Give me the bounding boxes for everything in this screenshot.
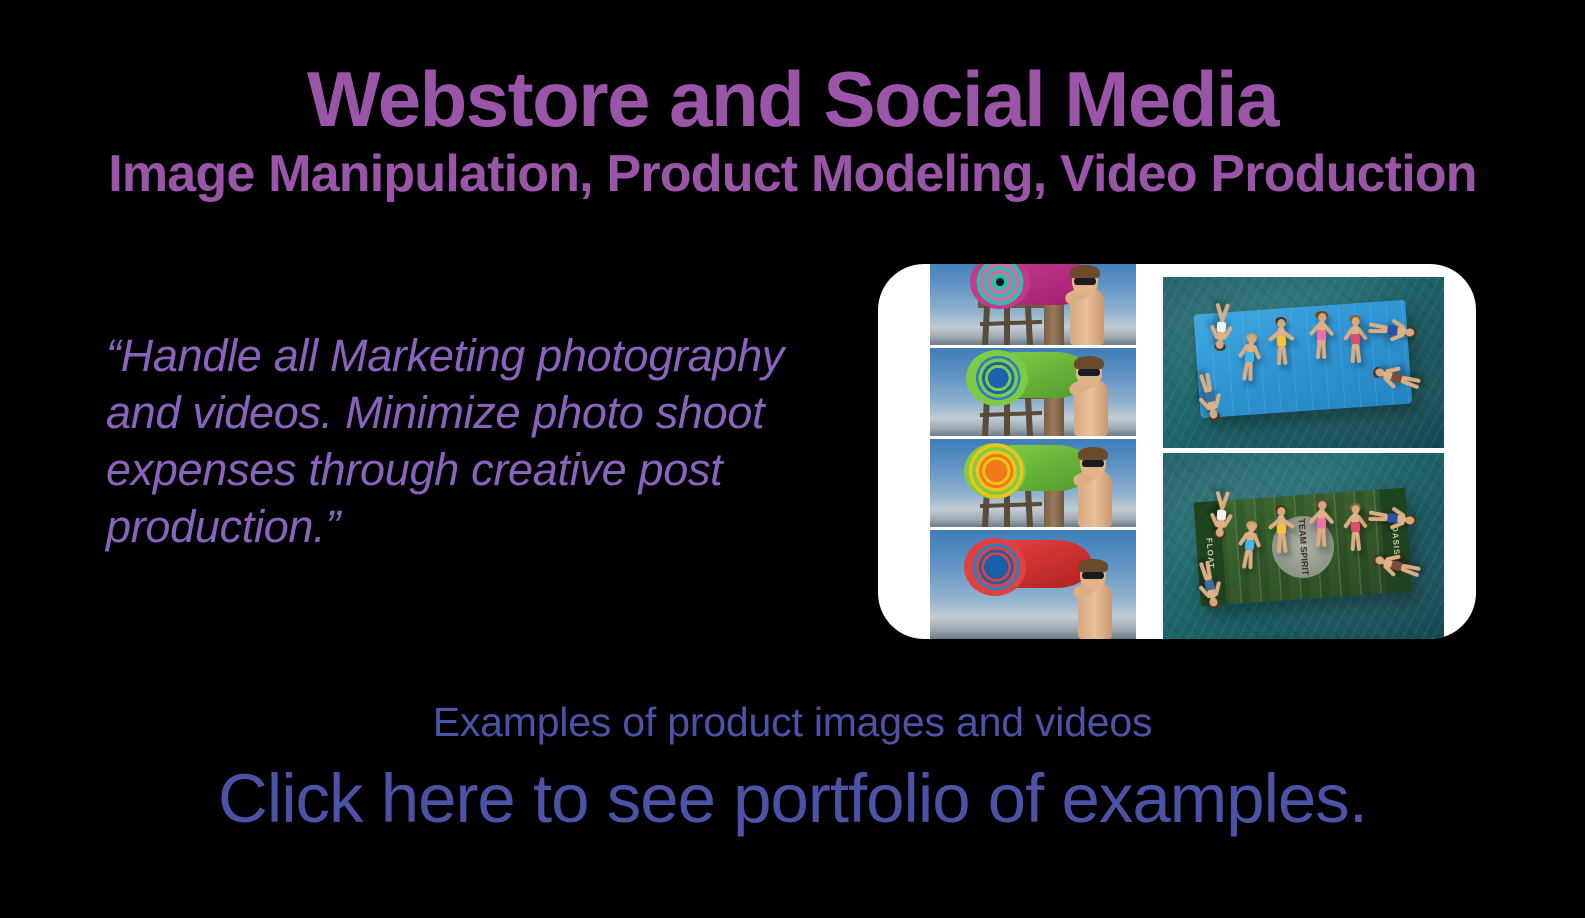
rolled-mat-spiral: [964, 538, 1026, 596]
person-on-pad: [1315, 501, 1329, 547]
product-image-collage: FLOAT OASIS TEAM SPIRIT: [878, 264, 1476, 639]
blue-water-pad-photo[interactable]: [1163, 277, 1444, 448]
model-person: [1064, 360, 1118, 436]
examples-caption: Examples of product images and videos: [0, 697, 1585, 747]
collage-thumbnail[interactable]: [930, 264, 1136, 345]
model-person: [1060, 265, 1114, 345]
testimonial-quote: “Handle all Marketing photography and vi…: [106, 327, 786, 555]
person-on-pad: [1349, 505, 1363, 551]
person-on-pad: [1349, 317, 1363, 363]
page-subtitle: Image Manipulation, Product Modeling, Vi…: [0, 143, 1585, 205]
person-on-pad: [1274, 319, 1289, 365]
page-title: Webstore and Social Media: [0, 56, 1585, 142]
model-person: [1068, 455, 1122, 527]
person-on-pad: [1315, 313, 1329, 359]
slide-root: Webstore and Social Media Image Manipula…: [0, 0, 1585, 918]
rolled-mat-spiral: [966, 350, 1028, 406]
portfolio-link[interactable]: Click here to see portfolio of examples.: [0, 757, 1585, 841]
collage-thumbnail[interactable]: [930, 348, 1136, 436]
pad-text-right: OASIS: [1390, 525, 1401, 555]
rolled-mat-spiral: [964, 443, 1026, 499]
collage-thumbnail[interactable]: [930, 439, 1136, 527]
person-on-pad: [1274, 507, 1289, 553]
pad-text-center: TEAM SPIRIT: [1296, 518, 1311, 576]
collage-thumbnail[interactable]: [930, 530, 1136, 639]
model-person: [1068, 579, 1122, 639]
yoga-mat-filmstrip: [930, 264, 1136, 639]
football-field-water-pad-photo[interactable]: FLOAT OASIS TEAM SPIRIT: [1163, 453, 1444, 639]
